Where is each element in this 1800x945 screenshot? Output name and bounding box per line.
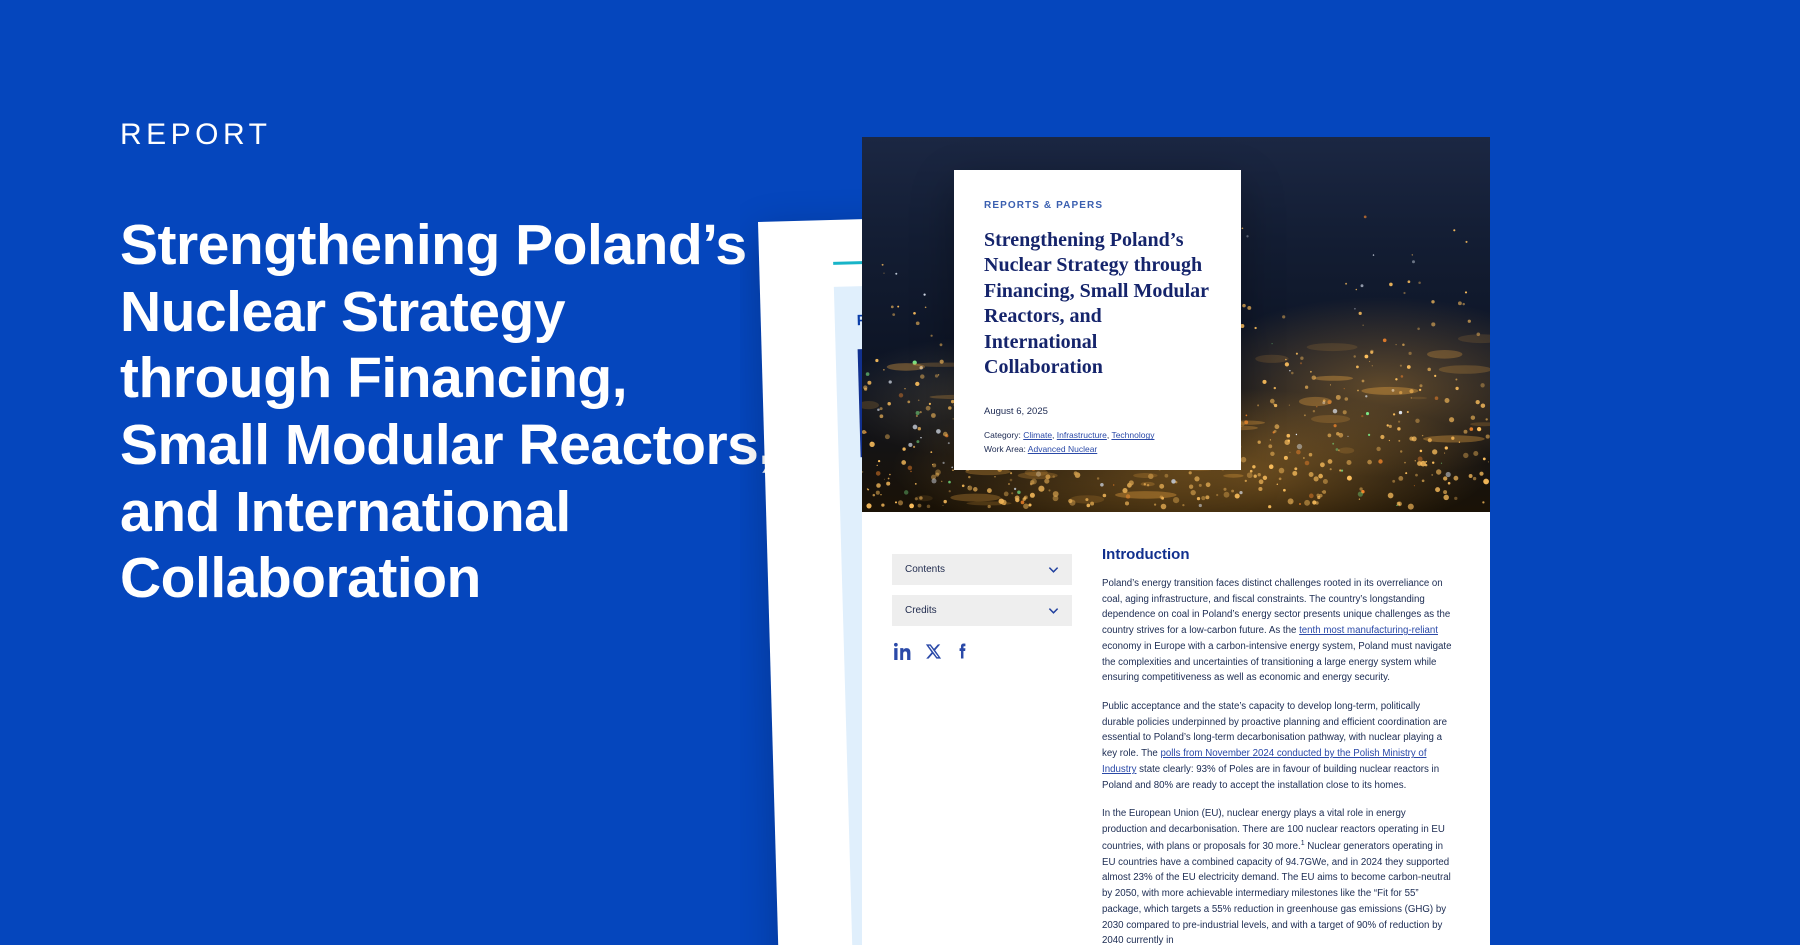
card-category-link[interactable]: Infrastructure bbox=[1057, 430, 1107, 440]
accordion-list: ContentsCredits bbox=[892, 554, 1072, 626]
card-workarea-line: Work Area: Advanced Nuclear bbox=[984, 443, 1211, 456]
report-cover-card: REPORTS & PAPERS Strengthening Poland’s … bbox=[954, 170, 1241, 470]
article-heading: Introduction bbox=[1102, 546, 1452, 563]
card-category-line: Category: Climate, Infrastructure, Techn… bbox=[984, 429, 1211, 442]
accordion-contents[interactable]: Contents bbox=[892, 554, 1072, 585]
hero-eyebrow: REPORT bbox=[120, 120, 780, 150]
linkedin-icon[interactable] bbox=[892, 640, 914, 662]
card-category-label: Category: bbox=[984, 430, 1021, 440]
footnote-marker: 1 bbox=[1301, 840, 1305, 847]
article-panel: ContentsCredits Introduction Poland’s en… bbox=[862, 512, 1490, 945]
card-eyebrow: REPORTS & PAPERS bbox=[984, 200, 1211, 211]
chevron-down-icon bbox=[1048, 564, 1059, 575]
article-paragraph: Poland’s energy transition faces distinc… bbox=[1102, 576, 1452, 686]
accordion-label: Contents bbox=[905, 564, 945, 575]
article-body: Poland’s energy transition faces distinc… bbox=[1102, 576, 1452, 945]
accordion-credits[interactable]: Credits bbox=[892, 595, 1072, 626]
hero-text-block: REPORT Strengthening Poland’s Nuclear St… bbox=[120, 120, 780, 612]
article-inline-link[interactable]: tenth most manufacturing-reliant bbox=[1299, 625, 1438, 636]
accordion-label: Credits bbox=[905, 605, 937, 616]
card-workarea-link[interactable]: Advanced Nuclear bbox=[1028, 444, 1097, 454]
card-meta: Category: Climate, Infrastructure, Techn… bbox=[984, 429, 1211, 455]
card-publish-date: August 6, 2025 bbox=[984, 406, 1211, 417]
facebook-icon[interactable] bbox=[952, 640, 974, 662]
card-title: Strengthening Poland’s Nuclear Strategy … bbox=[984, 228, 1211, 380]
card-workarea-label: Work Area: bbox=[984, 444, 1026, 454]
chevron-down-icon bbox=[1048, 605, 1059, 616]
card-category-link[interactable]: Technology bbox=[1111, 430, 1154, 440]
social-share-list bbox=[892, 640, 1072, 662]
x-twitter-icon[interactable] bbox=[922, 640, 944, 662]
page-title: Strengthening Poland’s Nuclear Strategy … bbox=[120, 212, 780, 612]
article-inline-link[interactable]: polls from November 2024 conducted by th… bbox=[1102, 748, 1427, 775]
article-paragraph: Public acceptance and the state’s capaci… bbox=[1102, 699, 1452, 793]
report-preview-composition: Figure 1. Summary of the study: Decarbon… bbox=[740, 0, 1800, 945]
article-main: Introduction Poland’s energy transition … bbox=[1102, 544, 1452, 945]
card-category-link[interactable]: Climate bbox=[1023, 430, 1052, 440]
article-sidebar: ContentsCredits bbox=[892, 544, 1072, 945]
article-paragraph: In the European Union (EU), nuclear ener… bbox=[1102, 806, 1452, 945]
